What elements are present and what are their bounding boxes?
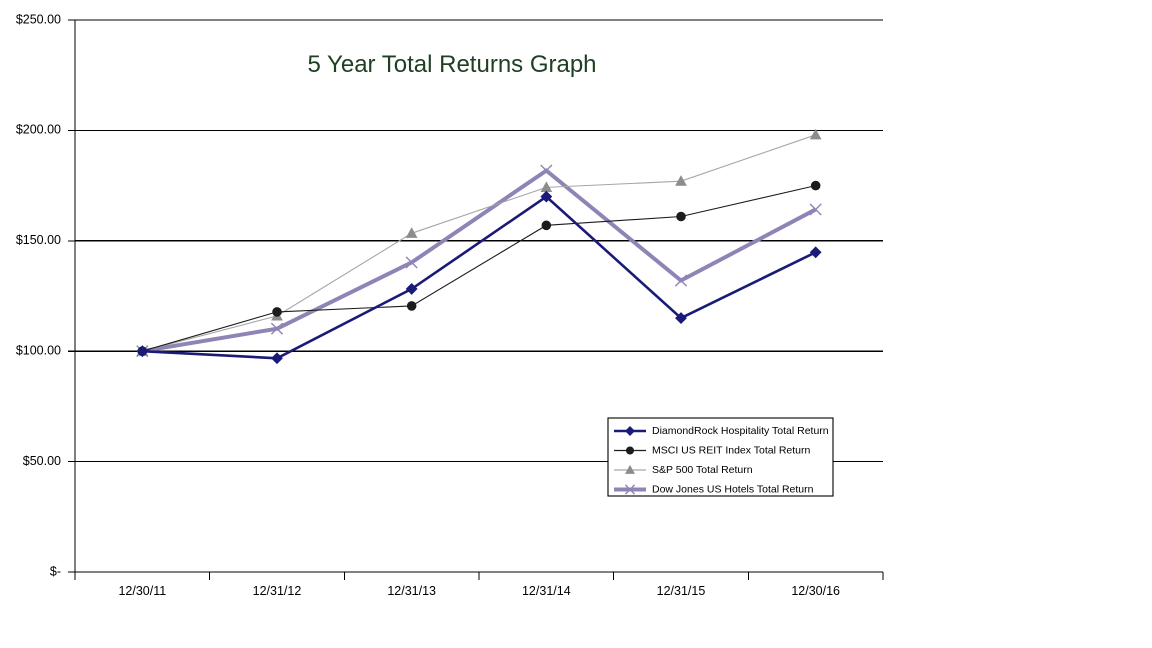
data-point-marker-circle	[542, 221, 551, 230]
y-tick-label: $100.00	[16, 343, 61, 357]
data-point-marker-triangle	[407, 228, 417, 237]
data-point-marker-circle	[626, 447, 633, 454]
chart-title: 5 Year Total Returns Graph	[307, 51, 596, 78]
data-point-marker-diamond	[810, 247, 820, 257]
x-tick-label: 12/31/12	[253, 584, 302, 598]
data-point-marker-triangle	[676, 176, 686, 185]
data-point-marker-triangle	[811, 130, 821, 139]
series-line	[142, 171, 815, 352]
chart-canvas: $-$50.00$100.00$150.00$200.00$250.00 12/…	[0, 0, 1152, 648]
x-tick-label: 12/30/11	[118, 584, 166, 598]
y-tick-label: $200.00	[16, 123, 61, 137]
data-point-marker-circle	[811, 181, 820, 190]
y-tick-label: $-	[50, 564, 61, 578]
x-tick-label: 12/30/16	[791, 584, 840, 598]
x-tick-labels-group: 12/30/1112/31/1212/31/1312/31/1412/31/15…	[118, 584, 840, 598]
legend-label: S&P 500 Total Return	[652, 464, 753, 476]
y-tick-label: $150.00	[16, 233, 61, 247]
chart-legend: DiamondRock Hospitality Total ReturnMSCI…	[608, 418, 833, 496]
series-1	[138, 181, 820, 355]
legend-label: DiamondRock Hospitality Total Return	[652, 425, 829, 437]
y-tick-labels-group: $-$50.00$100.00$150.00$200.00$250.00	[16, 12, 61, 578]
data-point-marker-x	[541, 165, 552, 176]
data-point-marker-circle	[407, 302, 416, 311]
x-tick-label: 12/31/15	[657, 584, 706, 598]
legend-label: MSCI US REIT Index Total Return	[652, 444, 811, 456]
y-tick-label: $50.00	[23, 454, 61, 468]
series-group	[137, 130, 822, 364]
data-point-marker-diamond	[272, 353, 282, 363]
total-returns-chart: $-$50.00$100.00$150.00$200.00$250.00 12/…	[0, 0, 1152, 648]
data-point-marker-circle	[677, 212, 686, 221]
series-3	[137, 165, 822, 357]
x-tick-label: 12/31/13	[387, 584, 436, 598]
legend-label: Dow Jones US Hotels Total Return	[652, 483, 814, 495]
data-point-marker-circle	[273, 308, 282, 317]
x-tick-label: 12/31/14	[522, 584, 571, 598]
y-tick-label: $250.00	[16, 12, 61, 26]
